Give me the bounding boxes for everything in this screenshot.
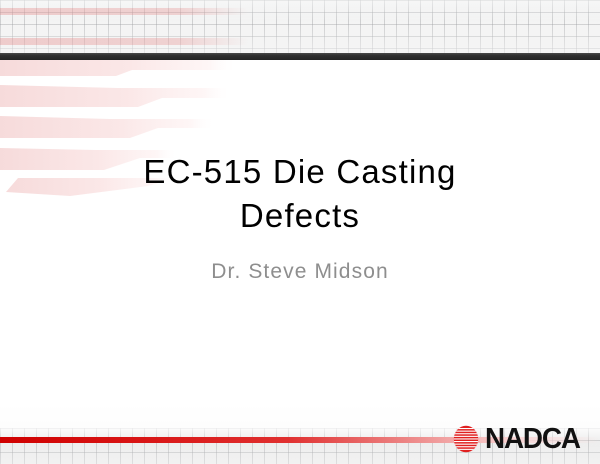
nadca-wordmark: NADCA — [485, 425, 580, 454]
top-grid-band — [0, 0, 600, 53]
presentation-slide: EC-515 Die Casting Defects Dr. Steve Mid… — [0, 0, 600, 464]
top-pink-bar-2 — [0, 38, 248, 45]
dark-divider-rule — [0, 53, 600, 60]
presenter-subtitle: Dr. Steve Midson — [0, 238, 600, 284]
nadca-logo: NADCA — [452, 421, 592, 457]
title-block: EC-515 Die Casting Defects Dr. Steve Mid… — [0, 150, 600, 284]
page-title: EC-515 Die Casting Defects — [0, 150, 600, 238]
nadca-striped-globe-icon — [452, 425, 480, 453]
top-pink-bar-1 — [0, 8, 248, 15]
